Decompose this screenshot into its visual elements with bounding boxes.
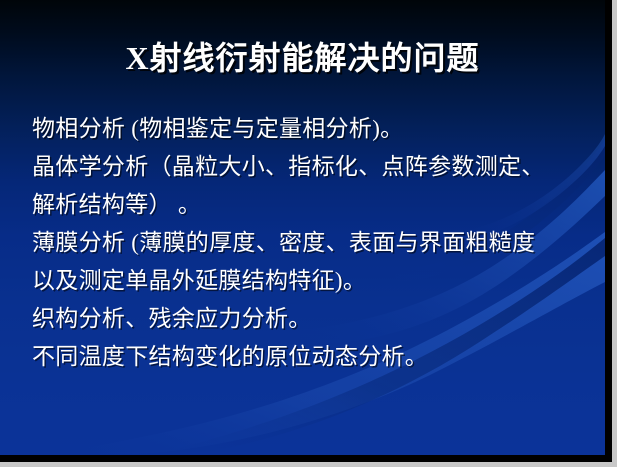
body-line: 不同温度下结构变化的原位动态分析。	[32, 338, 592, 376]
body-line: 薄膜分析 (薄膜的厚度、密度、表面与界面粗糙度	[32, 224, 592, 262]
body-line: 以及测定单晶外延膜结构特征)。	[32, 262, 592, 300]
slide-canvas: X射线衍射能解决的问题 物相分析 (物相鉴定与定量相分析)。 晶体学分析（晶粒大…	[0, 0, 605, 455]
body-line: 物相分析 (物相鉴定与定量相分析)。	[32, 110, 592, 148]
body-line: 晶体学分析（晶粒大小、指标化、点阵参数测定、	[32, 148, 592, 186]
slide-frame: X射线衍射能解决的问题 物相分析 (物相鉴定与定量相分析)。 晶体学分析（晶粒大…	[0, 0, 617, 467]
body-line: 织构分析、残余应力分析。	[32, 300, 592, 338]
slide-border: X射线衍射能解决的问题 物相分析 (物相鉴定与定量相分析)。 晶体学分析（晶粒大…	[0, 0, 612, 462]
page-title: X射线衍射能解决的问题	[125, 38, 479, 78]
body-line: 解析结构等） 。	[32, 186, 592, 224]
title-block: X射线衍射能解决的问题	[0, 38, 605, 78]
slide-body: 物相分析 (物相鉴定与定量相分析)。 晶体学分析（晶粒大小、指标化、点阵参数测定…	[32, 110, 592, 376]
